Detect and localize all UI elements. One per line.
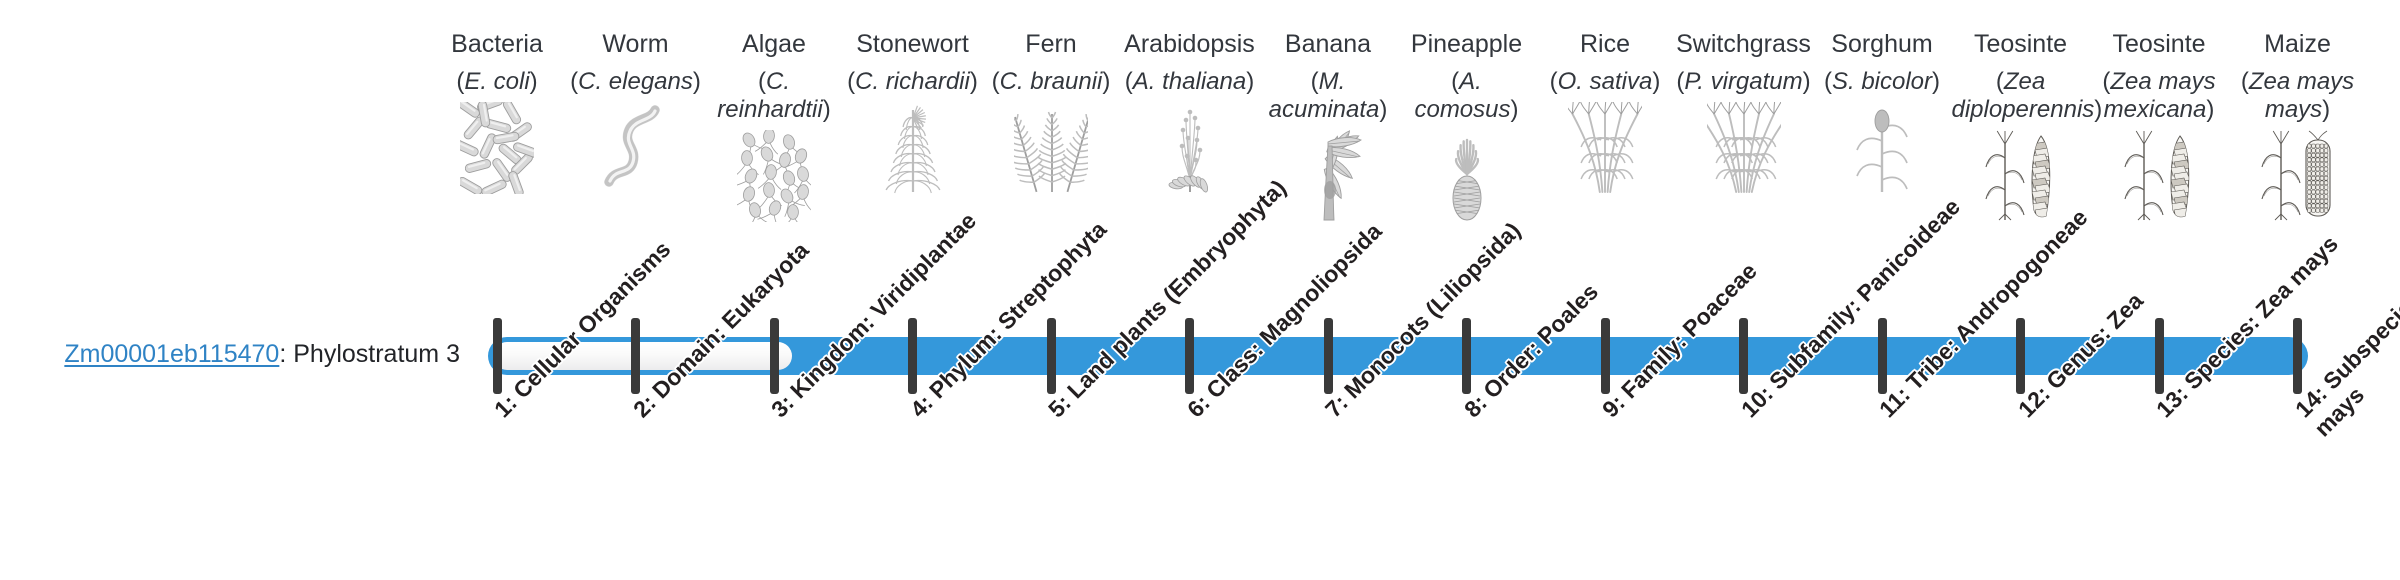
- switchgrass-icon: [1675, 102, 1813, 194]
- bacteria-rods-icon: [428, 102, 566, 194]
- species-latin-name: (P. virgatum): [1675, 68, 1813, 96]
- rank-number: 9:: [1597, 390, 1630, 423]
- nematode-worm-icon: [567, 102, 705, 194]
- sorghum-icon: [1813, 102, 1951, 194]
- species-common-name: Rice: [1536, 30, 1674, 59]
- species-latin-name: (O. sativa): [1536, 68, 1674, 96]
- species-column: Arabidopsis(A. thaliana): [1121, 30, 1259, 194]
- species-latin-text: O. sativa: [1558, 68, 1653, 95]
- species-column: Bacteria(E. coli): [428, 30, 566, 194]
- species-latin-text: C. braunii: [1000, 68, 1103, 95]
- algae-cells-icon: [705, 130, 843, 222]
- phylostratum-tick: [1878, 318, 1887, 394]
- species-latin-text: P. virgatum: [1684, 68, 1802, 95]
- rank-number: 1:: [489, 390, 522, 423]
- species-column: Worm(C. elegans): [567, 30, 705, 194]
- species-latin-name: (C. reinhardtii): [705, 68, 843, 124]
- species-latin-name: (Zea mays mexicana): [2090, 68, 2228, 124]
- arabidopsis-icon: [1121, 102, 1259, 194]
- teosinte-plant-ear-icon: [1952, 130, 2090, 222]
- teosinte-plant-ear-icon: [2090, 130, 2228, 222]
- rank-number: 2:: [628, 390, 661, 423]
- species-latin-name: (Zea diploperennis): [1952, 68, 2090, 124]
- rice-plant-icon: [1536, 102, 1674, 194]
- species-latin-text: C. reinhardtii: [717, 68, 822, 123]
- gene-id-link[interactable]: Zm00001eb115470: [64, 340, 279, 368]
- phylostratum-tick: [2016, 318, 2025, 394]
- species-common-name: Fern: [982, 30, 1120, 59]
- species-latin-text: Zea mays mexicana: [2104, 68, 2216, 123]
- species-common-name: Worm: [567, 30, 705, 59]
- species-column: Fern(C. braunii): [982, 30, 1120, 194]
- phylostratum-value: Phylostratum 3: [293, 340, 460, 368]
- phylostratum-bar[interactable]: [488, 337, 2308, 375]
- species-common-name: Teosinte: [2090, 30, 2228, 59]
- species-latin-text: C. elegans: [578, 68, 693, 95]
- species-column: Switchgrass(P. virgatum): [1675, 30, 1813, 194]
- species-latin-name: (A. thaliana): [1121, 68, 1259, 96]
- species-latin-text: S. bicolor: [1832, 68, 1932, 95]
- species-common-name: Maize: [2229, 30, 2367, 59]
- species-common-name: Switchgrass: [1675, 30, 1813, 59]
- species-common-name: Sorghum: [1813, 30, 1951, 59]
- species-common-name: Pineapple: [1398, 30, 1536, 59]
- species-latin-name: (M. acuminata): [1259, 68, 1397, 124]
- species-latin-name: (C. richardii): [844, 68, 982, 96]
- phylostratum-tick: [908, 318, 917, 394]
- species-common-name: Teosinte: [1952, 30, 2090, 59]
- phylostratum-bar-unreached: [493, 342, 792, 370]
- species-latin-text: Zea mays mays: [2249, 68, 2354, 123]
- rank-number: 5:: [1043, 390, 1076, 423]
- phylostratum-tick: [1462, 318, 1471, 394]
- species-column: Teosinte(Zea diploperennis): [1952, 30, 2090, 222]
- species-column: Banana(M. acuminata): [1259, 30, 1397, 222]
- species-column: Algae(C. reinhardtii): [705, 30, 843, 222]
- gene-label-separator: :: [279, 340, 293, 368]
- species-common-name: Bacteria: [428, 30, 566, 59]
- maize-plant-ear-icon: [2229, 130, 2367, 222]
- phylostratum-tick: [1324, 318, 1333, 394]
- species-column: Maize(Zea mays mays): [2229, 30, 2367, 222]
- species-latin-text: A. thaliana: [1133, 68, 1246, 95]
- phylostratum-figure: Zm00001eb115470: Phylostratum 3 Bacteria…: [0, 0, 2400, 580]
- rank-number: 3:: [766, 390, 799, 423]
- species-column: Stonewort(C. richardii): [844, 30, 982, 194]
- phylostratum-tick: [493, 318, 502, 394]
- phylostratum-tick: [1601, 318, 1610, 394]
- fern-icon: [982, 102, 1120, 194]
- species-column: Teosinte(Zea mays mexicana): [2090, 30, 2228, 222]
- species-common-name: Algae: [705, 30, 843, 59]
- species-latin-name: (Zea mays mays): [2229, 68, 2367, 124]
- species-latin-text: A. comosus: [1414, 68, 1510, 123]
- species-common-name: Arabidopsis: [1121, 30, 1259, 59]
- species-latin-name: (S. bicolor): [1813, 68, 1951, 96]
- rank-number: 7:: [1320, 390, 1353, 423]
- gene-phylostratum-label: Zm00001eb115470: Phylostratum 3: [40, 341, 460, 369]
- species-common-name: Banana: [1259, 30, 1397, 59]
- species-latin-text: M. acuminata: [1269, 68, 1380, 123]
- species-latin-name: (C. braunii): [982, 68, 1120, 96]
- species-latin-name: (E. coli): [428, 68, 566, 96]
- species-column-row: Bacteria(E. coli): [0, 0, 2400, 300]
- species-latin-name: (A. comosus): [1398, 68, 1536, 124]
- phylostratum-tick: [631, 318, 640, 394]
- phylostratum-tick: [2293, 318, 2302, 394]
- phylostratum-tick: [1047, 318, 1056, 394]
- rank-number: 6:: [1182, 390, 1215, 423]
- species-latin-text: Zea diploperennis: [1952, 68, 2095, 123]
- species-latin-text: C. richardii: [855, 68, 970, 95]
- phylostratum-tick: [770, 318, 779, 394]
- rank-number: 4:: [905, 390, 938, 423]
- species-column: Sorghum(S. bicolor): [1813, 30, 1951, 194]
- phylostratum-tick: [1739, 318, 1748, 394]
- species-column: Pineapple(A. comosus): [1398, 30, 1536, 222]
- phylostratum-tick: [2155, 318, 2164, 394]
- species-common-name: Stonewort: [844, 30, 982, 59]
- phylostratum-tick: [1185, 318, 1194, 394]
- species-latin-text: E. coli: [464, 68, 529, 95]
- banana-plant-icon: [1259, 130, 1397, 222]
- species-column: Rice(O. sativa): [1536, 30, 1674, 194]
- pineapple-icon: [1398, 130, 1536, 222]
- stonewort-icon: [844, 102, 982, 194]
- species-latin-name: (C. elegans): [567, 68, 705, 96]
- rank-number: 8:: [1459, 390, 1492, 423]
